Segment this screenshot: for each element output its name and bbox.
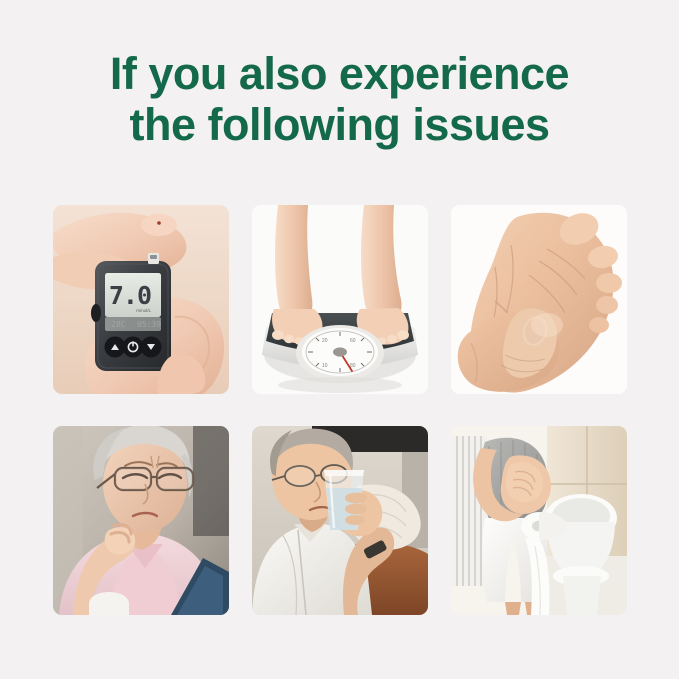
svg-text:7.0: 7.0 xyxy=(109,281,151,310)
tile-frequent-urination xyxy=(451,426,627,615)
tile-foot-pain xyxy=(451,205,627,394)
foot-pain-image xyxy=(451,205,627,394)
excessive-thirst-image xyxy=(252,426,428,615)
svg-text:60: 60 xyxy=(350,338,356,344)
page-title: If you also experience the following iss… xyxy=(0,48,679,150)
tile-bathroom-scale: 20 60 10 80 xyxy=(252,205,428,394)
svg-text:10: 10 xyxy=(322,363,328,369)
svg-text:20: 20 xyxy=(322,338,328,344)
bathroom-scale-image: 20 60 10 80 xyxy=(252,205,428,394)
blurred-vision-image xyxy=(53,426,229,615)
blood-glucose-meter-image: 7.0 mmol/L 28C 05:39 xyxy=(53,205,229,394)
tile-excessive-thirst xyxy=(252,426,428,615)
symptom-image-grid: 7.0 mmol/L 28C 05:39 xyxy=(53,205,627,615)
tile-blood-glucose-meter: 7.0 mmol/L 28C 05:39 xyxy=(53,205,229,394)
frequent-urination-image xyxy=(451,426,627,615)
page-title-line-2: the following issues xyxy=(0,99,679,150)
infographic-page: If you also experience the following iss… xyxy=(0,0,679,679)
page-title-line-1: If you also experience xyxy=(0,48,679,99)
tile-blurred-vision xyxy=(53,426,229,615)
svg-text:mmol/L: mmol/L xyxy=(136,308,151,313)
